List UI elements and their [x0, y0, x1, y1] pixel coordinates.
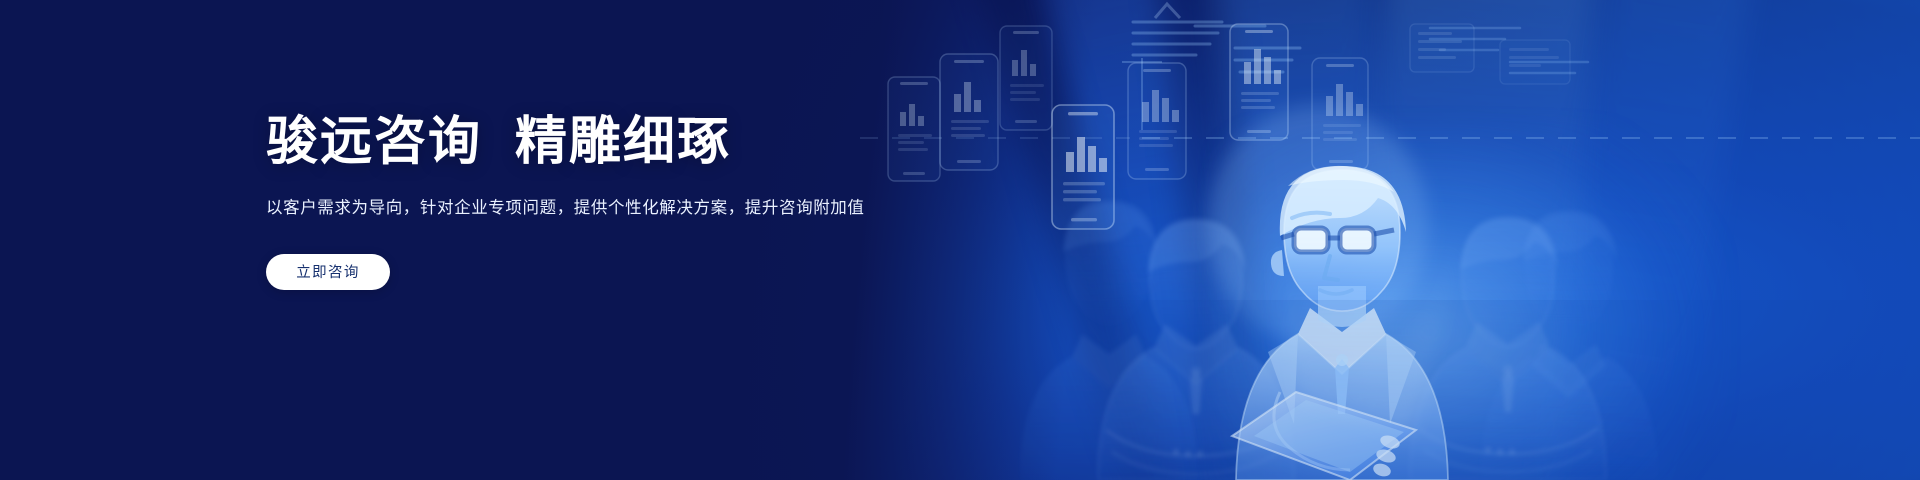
hero-copy: 骏远咨询 精雕细琢 以客户需求为导向，针对企业专项问题，提供个性化解决方案，提升… — [266, 112, 1046, 290]
hero-banner: 骏远咨询 精雕细琢 以客户需求为导向，针对企业专项问题，提供个性化解决方案，提升… — [0, 0, 1920, 480]
hero-subtitle: 以客户需求为导向，针对企业专项问题，提供个性化解决方案，提升咨询附加值 — [266, 195, 1046, 221]
consult-now-button[interactable]: 立即咨询 — [266, 254, 390, 290]
page-title: 骏远咨询 精雕细琢 — [266, 112, 1046, 173]
